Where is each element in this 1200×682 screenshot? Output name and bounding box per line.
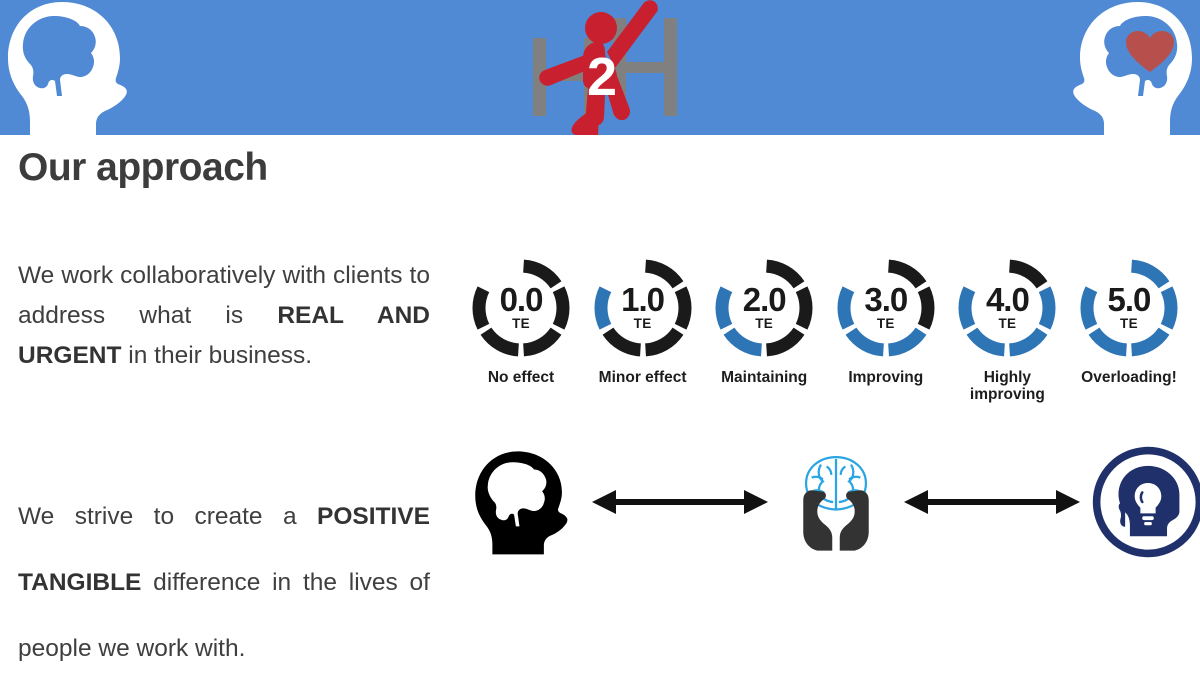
paragraph-difference: We strive to create a POSITIVE TANGIBLE …: [18, 484, 430, 682]
gauge-0-0: 0.0 TE No effect: [462, 256, 580, 386]
double-arrow-left: [590, 485, 770, 519]
gauge-label: Maintaining: [721, 369, 807, 386]
double-arrow-right: [902, 485, 1082, 519]
head-lightbulb-circle-icon: [1086, 440, 1200, 564]
gauge-label: Highly improving: [948, 369, 1066, 404]
gauge-3-0: 3.0 TE Improving: [827, 256, 945, 386]
gauge-1-0: 1.0 TE Minor effect: [584, 256, 702, 386]
gauge-ring: 5.0 TE: [1077, 256, 1181, 360]
gauge-label: Minor effect: [599, 369, 687, 386]
h2h-logo: 2: [485, 0, 715, 135]
gauge-5-0: 5.0 TE Overloading!: [1070, 256, 1188, 386]
gauge-scale-row: 0.0 TE No effect 1.0 TE Minor effect 2.0…: [462, 256, 1188, 404]
gauge-label: Improving: [848, 369, 923, 386]
gauge-ring: 3.0 TE: [834, 256, 938, 360]
gauge-4-0: 4.0 TE Highly improving: [948, 256, 1066, 404]
header-banner: 2: [0, 0, 1200, 135]
flow-diagram: [462, 432, 1188, 572]
paragraph-approach: We work collaboratively with clients to …: [18, 256, 430, 376]
gauge-ring: 1.0 TE: [591, 256, 695, 360]
hands-holding-brain-icon: [774, 440, 898, 564]
gauge-2-0: 2.0 TE Maintaining: [705, 256, 823, 386]
gauge-ring: 2.0 TE: [712, 256, 816, 360]
svg-text:2: 2: [587, 47, 617, 107]
gauge-label: Overloading!: [1081, 369, 1177, 386]
para-two-before: We strive to create a: [18, 503, 317, 530]
gauge-ring: 0.0 TE: [469, 256, 573, 360]
gauge-label: No effect: [488, 369, 554, 386]
head-heart-icon: [1050, 0, 1200, 135]
head-brain-icon: [0, 0, 150, 135]
gauge-ring: 4.0 TE: [955, 256, 1059, 360]
page-title: Our approach: [18, 146, 268, 190]
head-brain-silhouette-icon: [462, 440, 586, 564]
para-one-after: in their business.: [121, 342, 312, 369]
